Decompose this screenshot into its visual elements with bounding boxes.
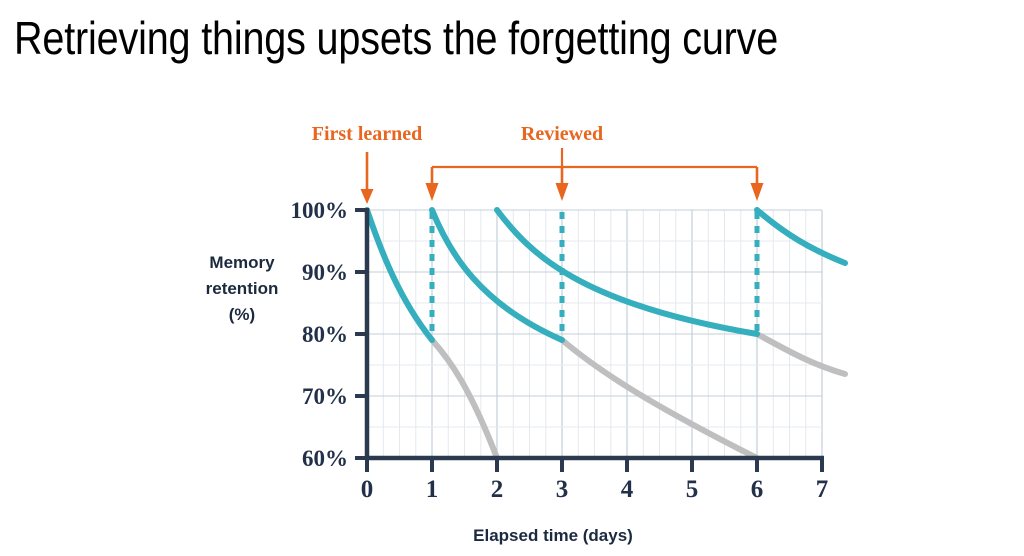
x-tick-label: 2 (491, 476, 504, 503)
y-tick-label: 90% (302, 260, 348, 285)
y-axis-title-line: (%) (229, 305, 255, 324)
x-tick-label: 3 (556, 476, 569, 503)
gray-curve-segment-3 (757, 334, 845, 374)
annotation-first-learned-label: First learned (312, 123, 423, 145)
y-axis-title: Memory retention (%) (206, 253, 279, 324)
forgetting-curve-chart: 100% 90% 80% 70% 60% 0 1 2 3 4 5 6 7 Ela… (0, 104, 1024, 556)
page-title: Retrieving things upsets the forgetting … (14, 6, 871, 70)
x-tick-label: 7 (816, 476, 829, 503)
y-tick-labels: 100% 90% 80% 70% 60% (291, 198, 349, 471)
x-tick-label: 5 (686, 476, 699, 503)
y-axis-title-line: retention (206, 279, 279, 298)
chart-svg: 100% 90% 80% 70% 60% 0 1 2 3 4 5 6 7 Ela… (0, 104, 1024, 556)
arrow-down-icon (751, 167, 764, 201)
y-tick-label: 80% (302, 322, 348, 347)
x-tick-label: 6 (751, 476, 764, 503)
x-tick-label: 1 (426, 476, 439, 503)
x-tick-label: 0 (361, 476, 374, 503)
y-axis-title-line: Memory (209, 253, 275, 272)
arrow-down-icon (556, 167, 569, 201)
x-tick-label: 4 (621, 476, 634, 503)
y-tick-label: 100% (291, 198, 349, 223)
annotation-reviewed-label: Reviewed (521, 123, 603, 145)
annotation-reviewed: Reviewed (426, 123, 764, 201)
slide-canvas: Retrieving things upsets the forgetting … (0, 0, 1024, 556)
y-tick-label: 70% (302, 384, 348, 409)
annotation-first-learned: First learned (312, 123, 423, 204)
arrow-down-icon (426, 167, 439, 201)
arrow-down-icon (361, 152, 374, 204)
x-axis-title: Elapsed time (days) (473, 526, 633, 545)
y-tick-label: 60% (302, 446, 348, 471)
teal-curve-segment-4 (757, 210, 845, 263)
x-tick-labels: 0 1 2 3 4 5 6 7 (361, 476, 829, 503)
